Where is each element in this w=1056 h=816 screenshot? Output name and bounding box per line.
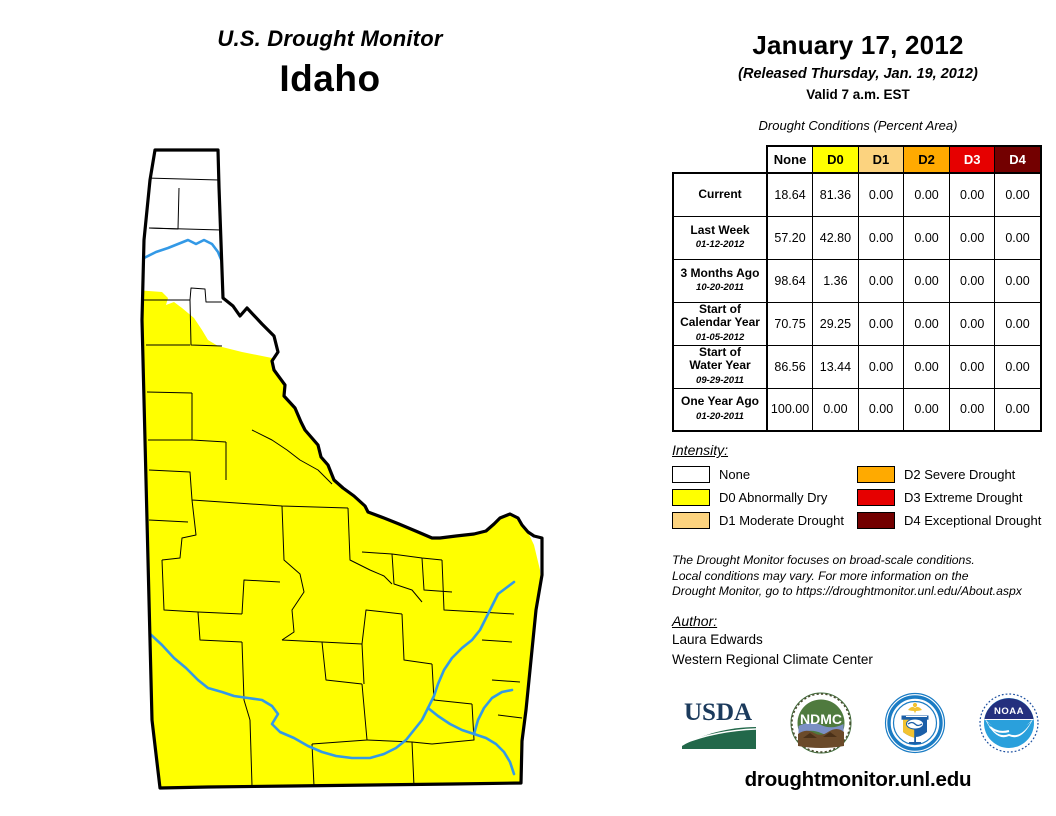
logo-row: USDA NDMC (664, 692, 1056, 758)
swatch-d3-icon (857, 489, 895, 506)
author-name: Laura Edwards (672, 631, 1052, 649)
map-region-d0 (122, 290, 548, 800)
swatch-d4-icon (857, 512, 895, 529)
table-cell-d4: 0.00 (995, 345, 1041, 388)
column-header-none: None (767, 146, 813, 173)
table-cell-d3: 0.00 (949, 173, 995, 216)
column-header-d1: D1 (858, 146, 904, 173)
author-block: Author: Laura Edwards Western Regional C… (672, 613, 1052, 669)
row-label-line: Calendar Year (674, 316, 766, 330)
swatch-d1-icon (672, 512, 710, 529)
svg-text:NDMC: NDMC (800, 711, 842, 727)
svg-text:NOAA: NOAA (994, 706, 1024, 717)
table-cell-d4: 0.00 (995, 216, 1041, 259)
row-label-line: Start of (674, 346, 766, 360)
table-cell-d1: 0.00 (858, 173, 904, 216)
table-cell-d2: 0.00 (904, 302, 950, 345)
website-url[interactable]: droughtmonitor.unl.edu (660, 768, 1056, 792)
swatch-d2-icon (857, 466, 895, 483)
column-header-d0: D0 (813, 146, 859, 173)
right-panel: January 17, 2012 (Released Thursday, Jan… (660, 0, 1056, 816)
legend-label-none: None (719, 467, 750, 482)
table-cell-d4: 0.00 (995, 388, 1041, 431)
row-label: 3 Months Ago10-20-2011 (673, 259, 767, 302)
table-cell-d0: 13.44 (813, 345, 859, 388)
map-svg[interactable] (122, 140, 552, 800)
legend-item-none[interactable]: None (672, 466, 857, 483)
legend-label-d4: D4 Exceptional Drought (904, 513, 1041, 528)
release-date: (Released Thursday, Jan. 19, 2012) (660, 66, 1056, 82)
table-caption: Drought Conditions (Percent Area) (660, 118, 1056, 133)
table-cell-d1: 0.00 (858, 302, 904, 345)
row-label-line: Start of (674, 303, 766, 317)
table-cell-d3: 0.00 (949, 388, 995, 431)
column-header-d4: D4 (995, 146, 1041, 173)
legend-title: Intensity: (672, 442, 1054, 458)
disclaimer-text: The Drought Monitor focuses on broad-sca… (672, 553, 1052, 600)
row-label: Start ofWater Year09-29-2011 (673, 345, 767, 388)
legend-label-d0: D0 Abnormally Dry (719, 490, 827, 505)
table-cell-d2: 0.00 (904, 216, 950, 259)
disclaimer-line-3: Drought Monitor, go to https://droughtmo… (672, 584, 1052, 600)
table-cell-none: 70.75 (767, 302, 813, 345)
row-label: Last Week01-12-2012 (673, 216, 767, 259)
table-cell-none: 98.64 (767, 259, 813, 302)
table-row: One Year Ago01-20-2011100.000.000.000.00… (673, 388, 1041, 431)
table-cell-d0: 0.00 (813, 388, 859, 431)
date-block: January 17, 2012 (Released Thursday, Jan… (660, 0, 1056, 133)
table-cell-d0: 29.25 (813, 302, 859, 345)
legend-label-d3: D3 Extreme Drought (904, 490, 1023, 505)
disclaimer-line-1: The Drought Monitor focuses on broad-sca… (672, 553, 1052, 569)
drought-monitor-page: U.S. Drought Monitor Idaho (0, 0, 1056, 816)
table-cell-d1: 0.00 (858, 388, 904, 431)
author-affiliation: Western Regional Climate Center (672, 651, 1052, 669)
table-cell-d3: 0.00 (949, 345, 995, 388)
disclaimer-line-2: Local conditions may vary. For more info… (672, 569, 1052, 585)
table-cell-d0: 81.36 (813, 173, 859, 216)
table-cell-none: 57.20 (767, 216, 813, 259)
table-cell-none: 100.00 (767, 388, 813, 431)
table-cell-d2: 0.00 (904, 388, 950, 431)
row-label-date: 01-12-2012 (674, 238, 766, 252)
table-row: Start ofCalendar Year01-05-201270.7529.2… (673, 302, 1041, 345)
table-cell-d4: 0.00 (995, 173, 1041, 216)
swatch-none-icon (672, 466, 710, 483)
table-cell-d1: 0.00 (858, 259, 904, 302)
svg-text:USDA: USDA (684, 699, 752, 726)
table-cell-d4: 0.00 (995, 259, 1041, 302)
row-label-line: Water Year (674, 359, 766, 373)
report-date: January 17, 2012 (660, 30, 1056, 61)
row-label: One Year Ago01-20-2011 (673, 388, 767, 431)
table-cell-d0: 1.36 (813, 259, 859, 302)
legend-grid: None D2 Severe Drought D0 Abnormally Dry… (672, 466, 1054, 529)
table-cell-d3: 0.00 (949, 259, 995, 302)
swatch-d0-icon (672, 489, 710, 506)
table-cell-d4: 0.00 (995, 302, 1041, 345)
legend-item-d3[interactable]: D3 Extreme Drought (857, 489, 1054, 506)
title-block: U.S. Drought Monitor Idaho (0, 26, 660, 100)
table-cell-none: 86.56 (767, 345, 813, 388)
column-header-d2: D2 (904, 146, 950, 173)
table-cell-d2: 0.00 (904, 173, 950, 216)
row-label-date: 10-20-2011 (674, 281, 766, 295)
row-label-line: 3 Months Ago (674, 267, 766, 281)
legend-item-d2[interactable]: D2 Severe Drought (857, 466, 1054, 483)
legend-item-d0[interactable]: D0 Abnormally Dry (672, 489, 857, 506)
table-cell-d2: 0.00 (904, 259, 950, 302)
table-row: Current18.6481.360.000.000.000.00 (673, 173, 1041, 216)
row-label-line: Last Week (674, 224, 766, 238)
table-header-row: None D0 D1 D2 D3 D4 (673, 146, 1041, 173)
legend-label-d1: D1 Moderate Drought (719, 513, 844, 528)
usdc-seal-logo[interactable] (884, 692, 946, 759)
column-header-d3: D3 (949, 146, 995, 173)
legend-item-d4[interactable]: D4 Exceptional Drought (857, 512, 1054, 529)
intensity-legend: Intensity: None D2 Severe Drought D0 Abn… (672, 442, 1054, 529)
noaa-logo[interactable]: NOAA (978, 692, 1040, 759)
table-cell-d3: 0.00 (949, 302, 995, 345)
row-label-date: 01-05-2012 (674, 331, 766, 345)
table-cell-d3: 0.00 (949, 216, 995, 259)
ndmc-logo[interactable]: NDMC (790, 692, 852, 759)
row-label-line: Current (674, 188, 766, 202)
row-label-date: 09-29-2011 (674, 374, 766, 388)
row-label-date: 01-20-2011 (674, 410, 766, 424)
drought-conditions-table-wrap: None D0 D1 D2 D3 D4 Current18.6481.360.0… (672, 145, 1042, 432)
table-corner-cell (673, 146, 767, 173)
table-row: Start ofWater Year09-29-201186.5613.440.… (673, 345, 1041, 388)
row-label-line: One Year Ago (674, 395, 766, 409)
state-title: Idaho (0, 58, 660, 100)
table-cell-none: 18.64 (767, 173, 813, 216)
table-body: Current18.6481.360.000.000.000.00Last We… (673, 173, 1041, 431)
legend-label-d2: D2 Severe Drought (904, 467, 1015, 482)
table-cell-d0: 42.80 (813, 216, 859, 259)
table-row: Last Week01-12-201257.2042.800.000.000.0… (673, 216, 1041, 259)
legend-item-d1[interactable]: D1 Moderate Drought (672, 512, 857, 529)
table-cell-d2: 0.00 (904, 345, 950, 388)
table-cell-d1: 0.00 (858, 345, 904, 388)
table-row: 3 Months Ago10-20-201198.641.360.000.000… (673, 259, 1041, 302)
valid-time: Valid 7 a.m. EST (660, 87, 1056, 102)
row-label: Current (673, 173, 767, 216)
table-cell-d1: 0.00 (858, 216, 904, 259)
drought-conditions-table: None D0 D1 D2 D3 D4 Current18.6481.360.0… (672, 145, 1042, 432)
idaho-drought-map[interactable] (122, 140, 552, 800)
author-heading: Author: (672, 613, 1052, 629)
usda-logo[interactable]: USDA (680, 694, 758, 757)
row-label: Start ofCalendar Year01-05-2012 (673, 302, 767, 345)
page-title: U.S. Drought Monitor (0, 26, 660, 52)
